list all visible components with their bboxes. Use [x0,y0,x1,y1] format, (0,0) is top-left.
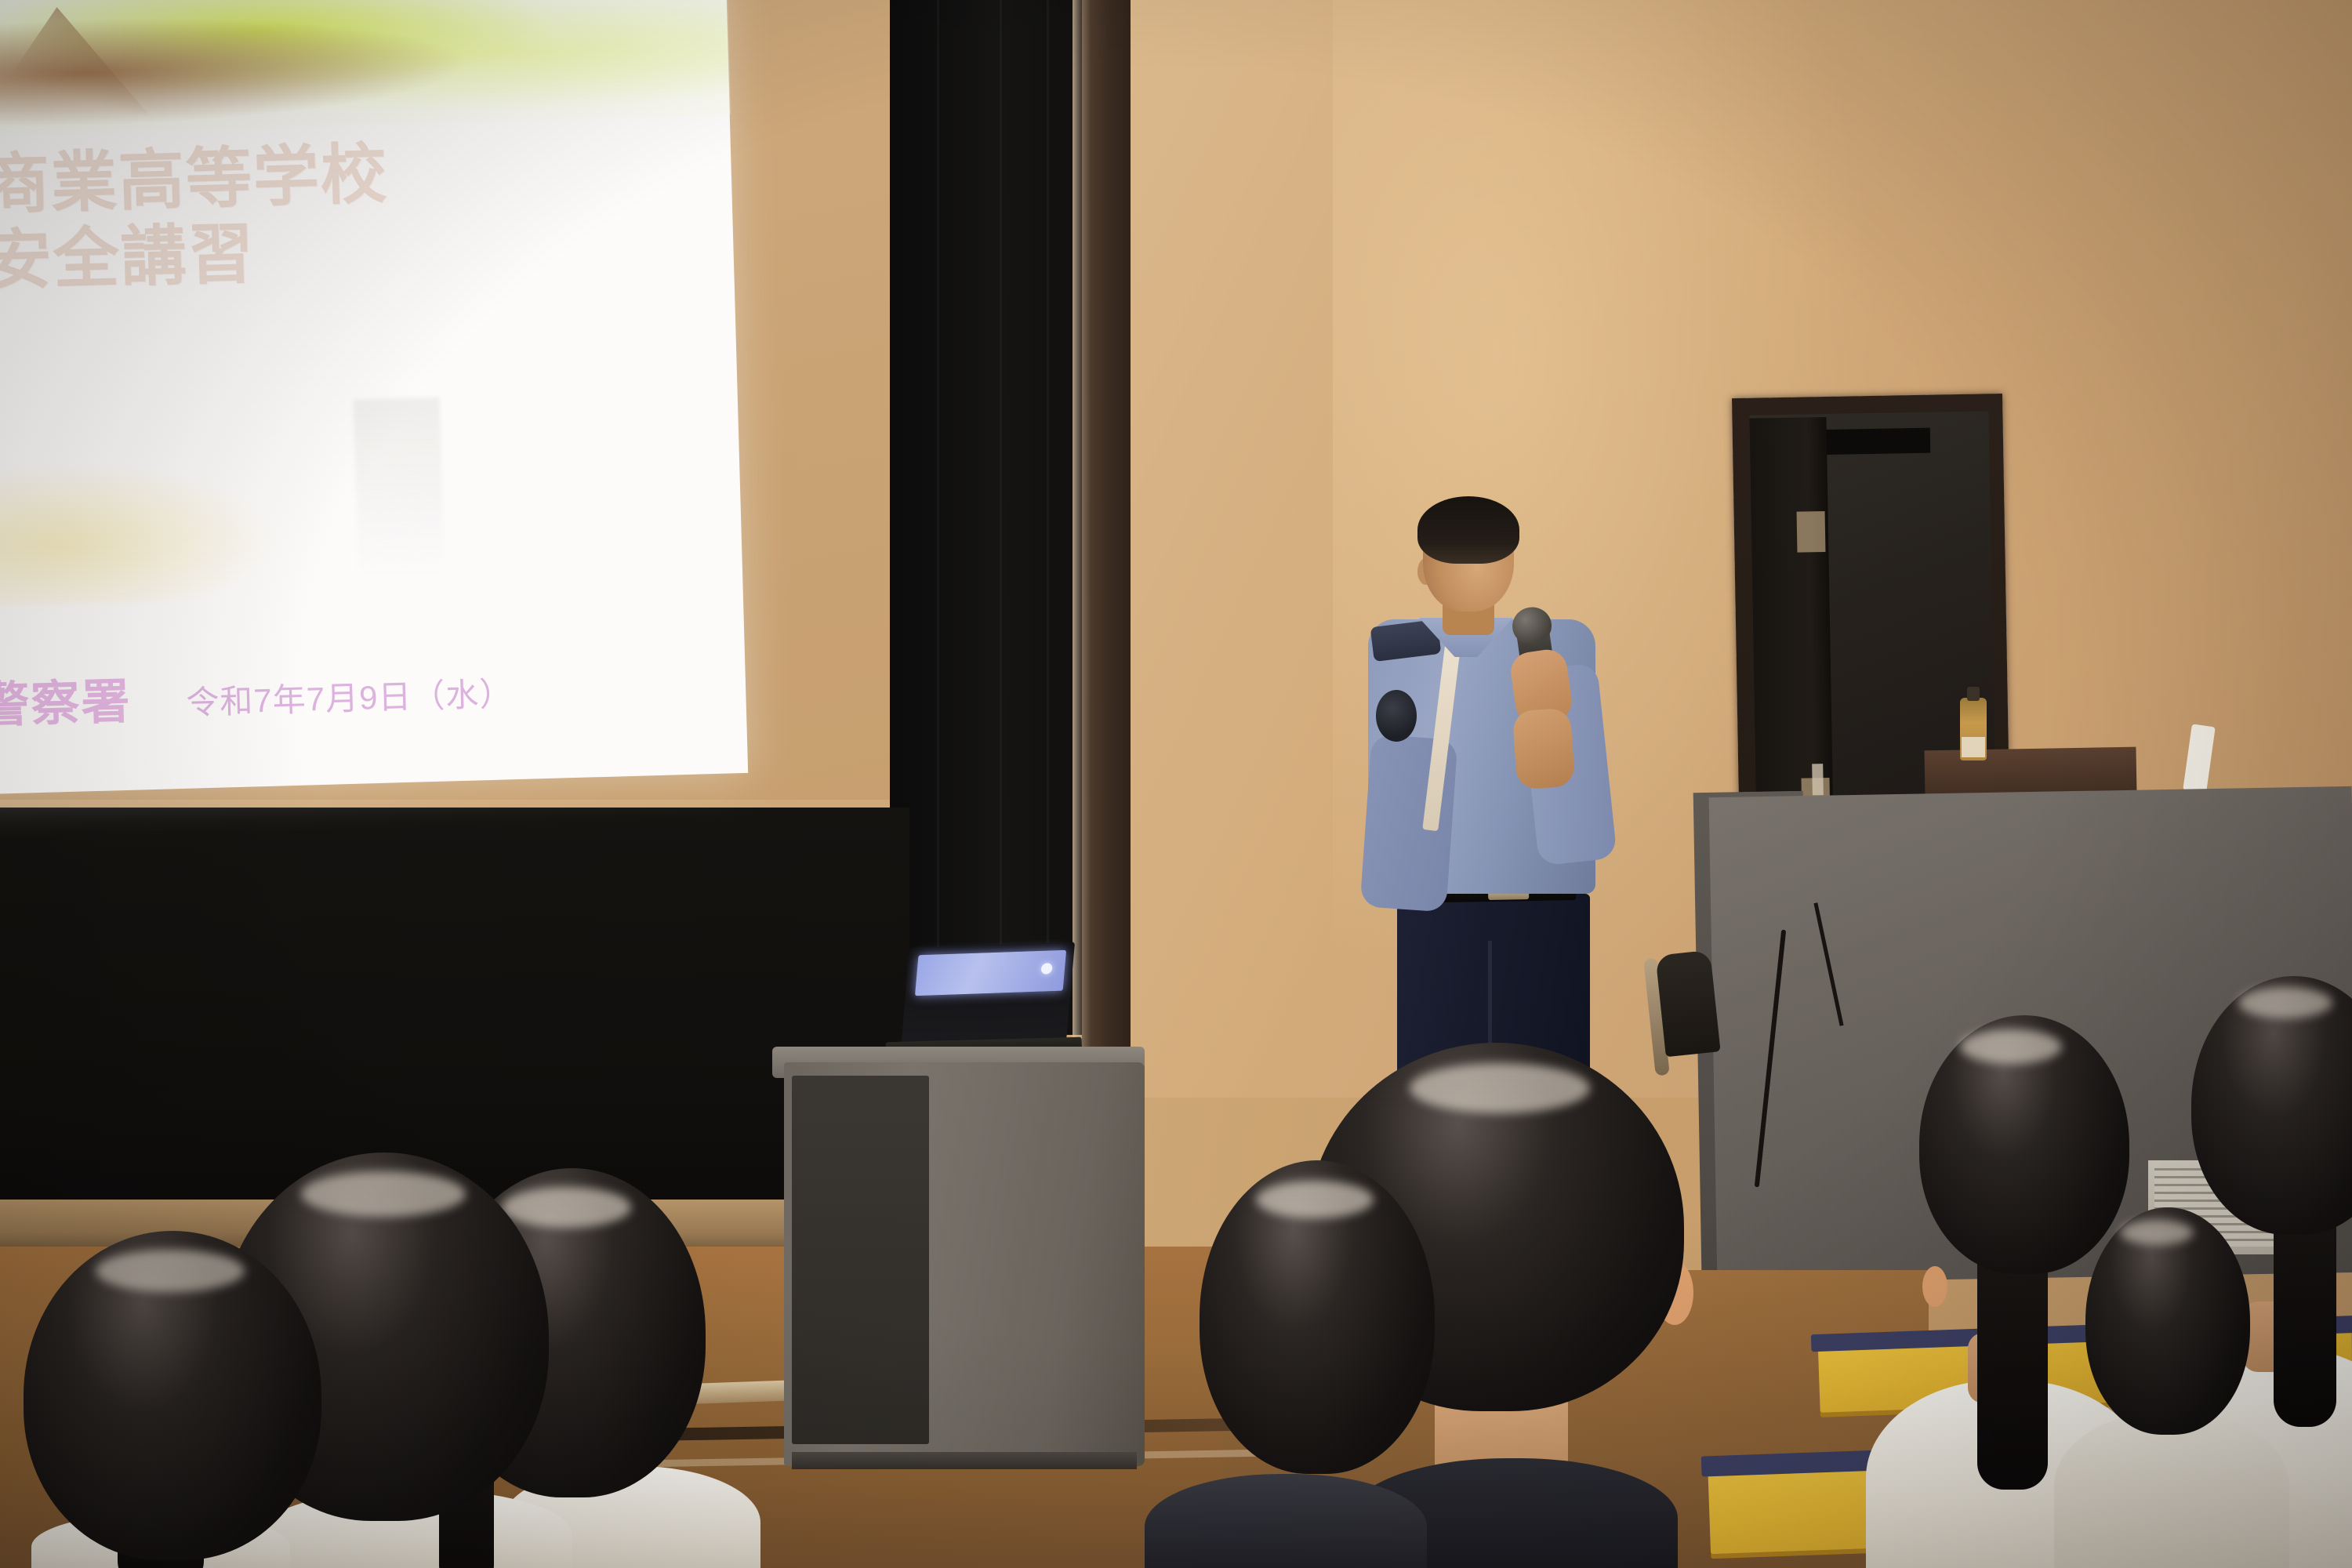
student-head [1200,1160,1435,1474]
student-head [2085,1207,2250,1435]
officer-hair [1417,496,1519,564]
bottle [1960,698,1987,760]
student-head [24,1231,321,1560]
slide-organization: 米警察署 [0,662,132,738]
student-ear [1922,1266,1947,1307]
student-ponytail [1977,1239,2048,1490]
slide-title: 米商業高等学校 通安全講習 [0,132,515,302]
bottle-cap [1967,687,1980,701]
student-head [1919,1015,2129,1274]
slide-date: 令和7年7月9日（水） [185,667,514,731]
slide-title-line2: 通安全講習 [0,209,515,302]
student-uniform-dark [1145,1474,1427,1568]
door-hinge-upper [1797,511,1826,553]
slide-inset-photo [0,448,296,607]
projection-screen: 米商業高等学校 通安全講習 米警察署 令和7年7月9日（水） [0,0,748,795]
laptop-lid[interactable] [901,942,1075,1049]
photo-scene: 米商業高等学校 通安全講習 米警察署 令和7年7月9日（水） [0,0,2352,1568]
stage-back-panel [0,808,909,1215]
bottle-label [1962,737,1985,757]
stage-curtain [890,0,1082,1035]
slide-inset-photo-2 [354,397,445,580]
door-handle[interactable] [1812,764,1824,795]
wood-pillar [1082,0,1131,1129]
officer-shoulder-badge [1376,690,1417,742]
podium-recess [792,1076,929,1444]
podium-base [792,1452,1137,1469]
slide-footer: 米警察署 令和7年7月9日（水） [0,651,514,738]
chair-backrest[interactable] [1655,950,1720,1058]
student-uniform [2054,1411,2289,1568]
officer-hand-lower [1512,708,1576,790]
